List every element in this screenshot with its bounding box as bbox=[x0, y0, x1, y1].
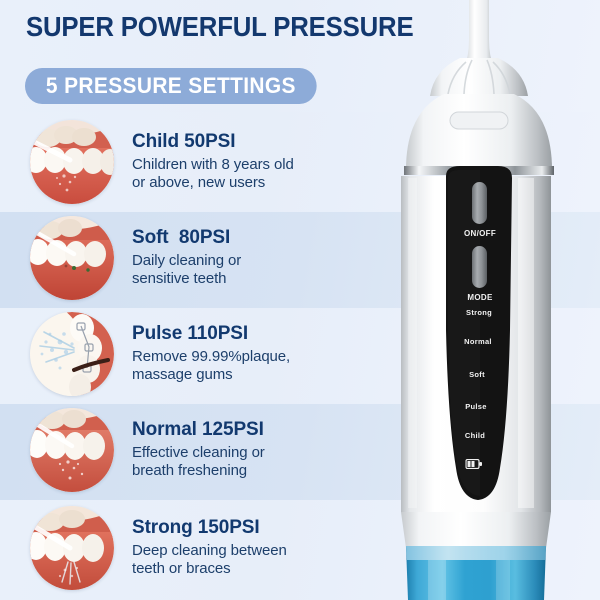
feature-row-pulse: Pulse 110PSI Remove 99.99%plaque, massag… bbox=[30, 312, 290, 396]
feature-description: Deep cleaning between teeth or braces bbox=[132, 542, 287, 580]
thumbnail-pulse bbox=[30, 312, 114, 396]
mode-label-pulse: Pulse bbox=[446, 402, 506, 411]
nozzle-eject-button bbox=[450, 112, 508, 129]
thumbnail-soft bbox=[30, 216, 114, 300]
feature-description: Daily cleaning or sensitive teeth bbox=[132, 252, 241, 290]
thumbnail-child bbox=[30, 120, 114, 204]
feature-row-child: Child 50PSI Children with 8 years old or… bbox=[30, 120, 294, 204]
battery-icon bbox=[466, 459, 483, 469]
infographic-page: SUPER POWERFUL PRESSURE 5 PRESSURE SETTI… bbox=[0, 0, 600, 600]
thumbnail-normal bbox=[30, 408, 114, 492]
feature-heading: Soft 80PSI bbox=[132, 227, 241, 249]
feature-heading: Pulse 110PSI bbox=[132, 323, 290, 345]
mode-label-soft: Soft bbox=[447, 370, 507, 379]
feature-description: Remove 99.99%plaque, massage gums bbox=[132, 348, 290, 386]
power-button-cap bbox=[472, 182, 487, 224]
feature-description: Effective cleaning or breath freshening bbox=[132, 444, 265, 482]
mode-label-normal: Normal bbox=[448, 337, 508, 346]
water-flosser-device: ON/OFF MODE Strong Normal Soft Pulse Chi… bbox=[368, 0, 600, 600]
page-title: SUPER POWERFUL PRESSURE bbox=[26, 11, 413, 43]
feature-row-strong: Strong 150PSI Deep cleaning between teet… bbox=[30, 506, 287, 590]
thumbnail-strong bbox=[30, 506, 114, 590]
mode-label-strong: Strong bbox=[449, 308, 509, 317]
mode-label-child: Child bbox=[445, 431, 505, 440]
feature-description: Children with 8 years old or above, new … bbox=[132, 156, 294, 194]
feature-heading: Child 50PSI bbox=[132, 131, 294, 153]
feature-heading: Strong 150PSI bbox=[132, 517, 287, 539]
feature-row-soft: Soft 80PSI Daily cleaning or sensitive t… bbox=[30, 216, 241, 300]
mode-button-label[interactable]: MODE bbox=[450, 293, 510, 302]
power-button-label[interactable]: ON/OFF bbox=[450, 229, 510, 238]
feature-row-normal: Normal 125PSI Effective cleaning or brea… bbox=[30, 408, 265, 492]
mode-button-cap bbox=[472, 246, 487, 288]
pressure-settings-badge: 5 PRESSURE SETTINGS bbox=[25, 68, 317, 104]
feature-heading: Normal 125PSI bbox=[132, 419, 265, 441]
